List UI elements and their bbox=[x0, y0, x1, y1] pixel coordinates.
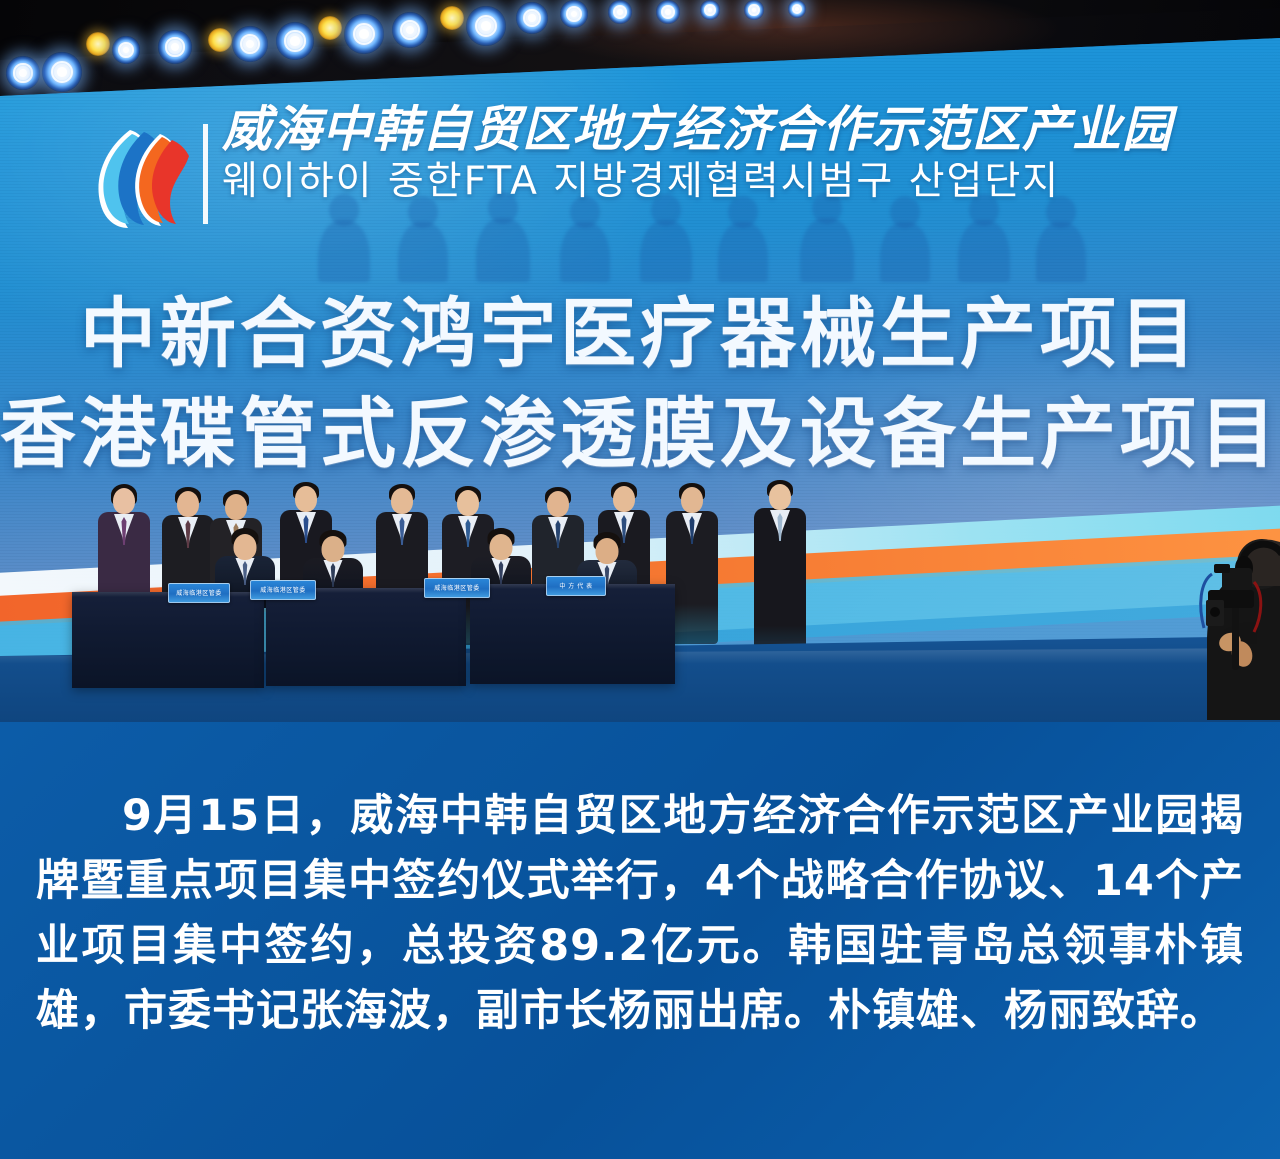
stage-light-white bbox=[744, 0, 764, 20]
name-placard-label: 中 方 代 表 bbox=[547, 577, 605, 597]
light-core bbox=[481, 21, 491, 31]
backdrop-title-line-2: 香港碟管式反渗透膜及设备生产项目 bbox=[0, 372, 1280, 482]
person-head bbox=[113, 488, 135, 514]
caption-text: 9月15日，威海中韩自贸区地方经济合作示范区产业园揭牌暨重点项目集中签约仪式举行… bbox=[36, 784, 1244, 1044]
name-placard: 中 方 代 表 bbox=[546, 576, 606, 596]
name-placard: 威海临港区管委 bbox=[424, 578, 490, 598]
light-core bbox=[617, 9, 623, 15]
light-core bbox=[665, 9, 671, 15]
event-photo: 威海中韩自贸区地方经济合作示范区产业园 웨이하이 중한FTA 지방경제협력시범구… bbox=[0, 0, 1280, 722]
person-head bbox=[457, 490, 479, 516]
name-placard-label: 威海临港区管委 bbox=[425, 579, 489, 599]
name-placard: 威海临港区管委 bbox=[168, 583, 230, 603]
signing-table bbox=[72, 592, 264, 688]
name-placard-label: 威海临港区管委 bbox=[169, 584, 229, 604]
logo-divider bbox=[203, 124, 208, 224]
stage-light-amber bbox=[440, 6, 464, 30]
stage-light-white bbox=[656, 0, 680, 24]
stage-light-white bbox=[516, 2, 548, 34]
person-head bbox=[322, 536, 345, 562]
person-head bbox=[613, 486, 635, 512]
person-head bbox=[177, 491, 199, 517]
name-placard-label: 威海临港区管委 bbox=[251, 581, 315, 601]
backdrop-title-line-1: 中新合资鸿宇医疗器械生产项目 bbox=[0, 272, 1280, 382]
person-head bbox=[769, 484, 791, 510]
person-head bbox=[391, 488, 413, 514]
caption-panel: 9月15日，威海中韩自贸区地方经济合作示范区产业园揭牌暨重点项目集中签约仪式举行… bbox=[0, 722, 1280, 1159]
camera-operator bbox=[1184, 520, 1280, 720]
person-head bbox=[295, 486, 317, 512]
person-head bbox=[234, 534, 257, 560]
stage-light-white bbox=[788, 0, 806, 18]
name-placard: 威海临港区管委 bbox=[250, 580, 316, 600]
light-core bbox=[528, 14, 536, 22]
weihai-fta-flame-logo-icon bbox=[86, 124, 194, 232]
signing-table bbox=[470, 584, 675, 684]
backdrop-header-korean: 웨이하이 중한FTA 지방경제협력시범구 산업단지 bbox=[222, 160, 1182, 204]
person-head bbox=[490, 534, 513, 560]
stage-light-white bbox=[608, 0, 632, 24]
backdrop-header-chinese: 威海中韩自贸区地方经济合作示范区产业园 bbox=[222, 104, 1182, 156]
person-head bbox=[547, 491, 569, 517]
signing-table bbox=[266, 588, 466, 686]
stage-light-white bbox=[700, 0, 720, 20]
person-head bbox=[681, 487, 703, 513]
person-head bbox=[225, 494, 247, 520]
stage-light-white bbox=[560, 0, 588, 28]
person-head bbox=[596, 538, 619, 564]
